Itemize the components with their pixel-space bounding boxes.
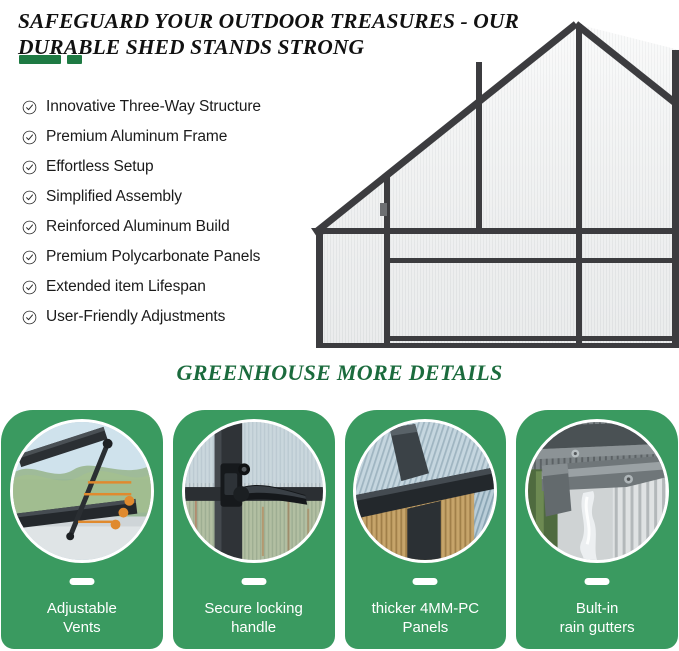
check-circle-icon — [22, 250, 37, 265]
feature-label: Premium Polycarbonate Panels — [46, 248, 260, 266]
list-item: Reinforced Aluminum Build — [22, 212, 261, 242]
list-item: Extended item Lifespan — [22, 272, 261, 302]
accent-bar-short — [67, 55, 82, 64]
hero-section: SAFEGUARD YOUR OUTDOOR TREASURES - OUR D… — [0, 0, 679, 352]
list-item: Premium Polycarbonate Panels — [22, 242, 261, 272]
check-circle-icon — [22, 130, 37, 145]
list-item: Effortless Setup — [22, 152, 261, 182]
rain-gutter-photo — [525, 419, 669, 563]
list-item: User-Friendly Adjustments — [22, 302, 261, 332]
check-circle-icon — [22, 100, 37, 115]
card-divider — [413, 578, 438, 585]
section-heading: GREENHOUSE MORE DETAILS — [0, 360, 679, 386]
card-divider — [585, 578, 610, 585]
feature-card-pc-panels[interactable]: thicker 4MM-PC Panels — [345, 410, 507, 649]
accent-bar-long — [19, 55, 61, 64]
list-item: Premium Aluminum Frame — [22, 122, 261, 152]
door-handle-photo — [182, 419, 326, 563]
feature-list: Innovative Three-Way Structure Premium A… — [22, 92, 261, 332]
feature-label: Extended item Lifespan — [46, 278, 206, 296]
check-circle-icon — [22, 280, 37, 295]
check-circle-icon — [22, 190, 37, 205]
check-circle-icon — [22, 160, 37, 175]
feature-label: Premium Aluminum Frame — [46, 128, 227, 146]
feature-card-adjustable-vents[interactable]: Adjustable Vents — [1, 410, 163, 649]
feature-label: Innovative Three-Way Structure — [46, 98, 261, 116]
feature-label: Effortless Setup — [46, 158, 154, 176]
accent-bars — [19, 55, 82, 64]
list-item: Innovative Three-Way Structure — [22, 92, 261, 122]
card-label: Bult-in rain gutters — [516, 600, 678, 637]
roof-vent-photo — [10, 419, 154, 563]
feature-card-rain-gutters[interactable]: Bult-in rain gutters — [516, 410, 678, 649]
card-label: Secure locking handle — [173, 600, 335, 637]
check-circle-icon — [22, 310, 37, 325]
check-circle-icon — [22, 220, 37, 235]
list-item: Simplified Assembly — [22, 182, 261, 212]
page-title: SAFEGUARD YOUR OUTDOOR TREASURES - OUR D… — [18, 8, 563, 60]
feature-label: Simplified Assembly — [46, 188, 182, 206]
card-divider — [69, 578, 94, 585]
card-divider — [241, 578, 266, 585]
feature-label: User-Friendly Adjustments — [46, 308, 225, 326]
card-label: Adjustable Vents — [1, 600, 163, 637]
feature-card-secure-locking-handle[interactable]: Secure locking handle — [173, 410, 335, 649]
feature-cards-row: Adjustable Vents — [0, 410, 679, 649]
card-label: thicker 4MM-PC Panels — [345, 600, 507, 637]
polycarbonate-panel-photo — [353, 419, 497, 563]
feature-label: Reinforced Aluminum Build — [46, 218, 230, 236]
